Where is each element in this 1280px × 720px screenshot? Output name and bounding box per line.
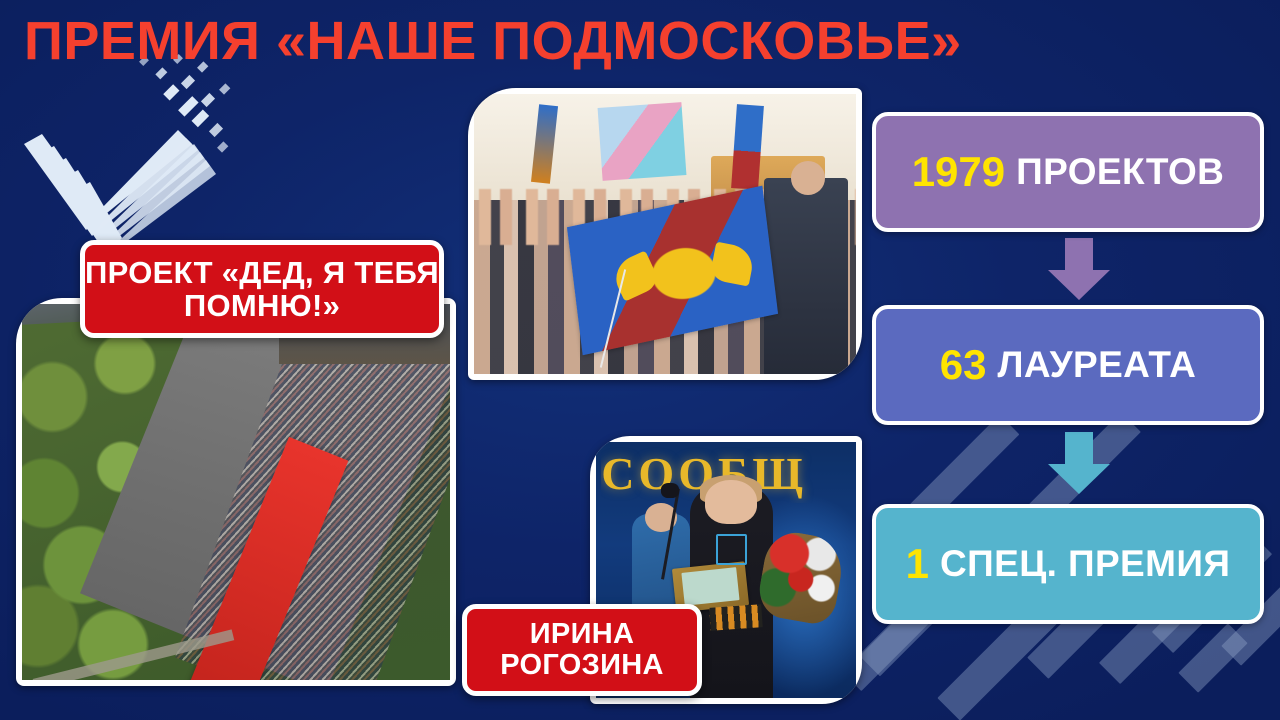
photo-group-image	[474, 94, 856, 374]
label-project-caption: ПРОЕКТ «ДЕД, Я ТЕБЯ ПОМНЮ!»	[80, 240, 444, 338]
stat-number-special-prize: 1	[906, 540, 929, 588]
photo-group-with-flag	[468, 88, 862, 380]
photo-parade-image	[22, 304, 450, 680]
stat-label-special-prize: СПЕЦ. ПРЕМИЯ	[940, 543, 1230, 585]
arrow-down-icon-1	[1042, 238, 1116, 300]
page-title: ПРЕМИЯ «НАШЕ ПОДМОСКОВЬЕ»	[24, 10, 962, 72]
label-person-caption: ИРИНА РОГОЗИНА	[462, 604, 702, 696]
stat-box-laureates: 63 ЛАУРЕАТА	[872, 305, 1264, 425]
stat-box-projects: 1979 ПРОЕКТОВ	[872, 112, 1264, 232]
arrow-down-icon-2	[1042, 432, 1116, 494]
stat-label-projects: ПРОЕКТОВ	[1016, 151, 1224, 193]
stat-number-laureates: 63	[940, 341, 987, 389]
stat-number-projects: 1979	[912, 148, 1005, 196]
stat-box-special-prize: 1 СПЕЦ. ПРЕМИЯ	[872, 504, 1264, 624]
checkmark-logo-icon	[6, 48, 236, 258]
presentation-slide: ПРЕМИЯ «НАШЕ ПОДМОСКОВЬЕ»	[0, 0, 1280, 720]
photo-parade	[16, 298, 456, 686]
stripe	[1178, 623, 1247, 692]
stat-label-laureates: ЛАУРЕАТА	[998, 344, 1197, 386]
